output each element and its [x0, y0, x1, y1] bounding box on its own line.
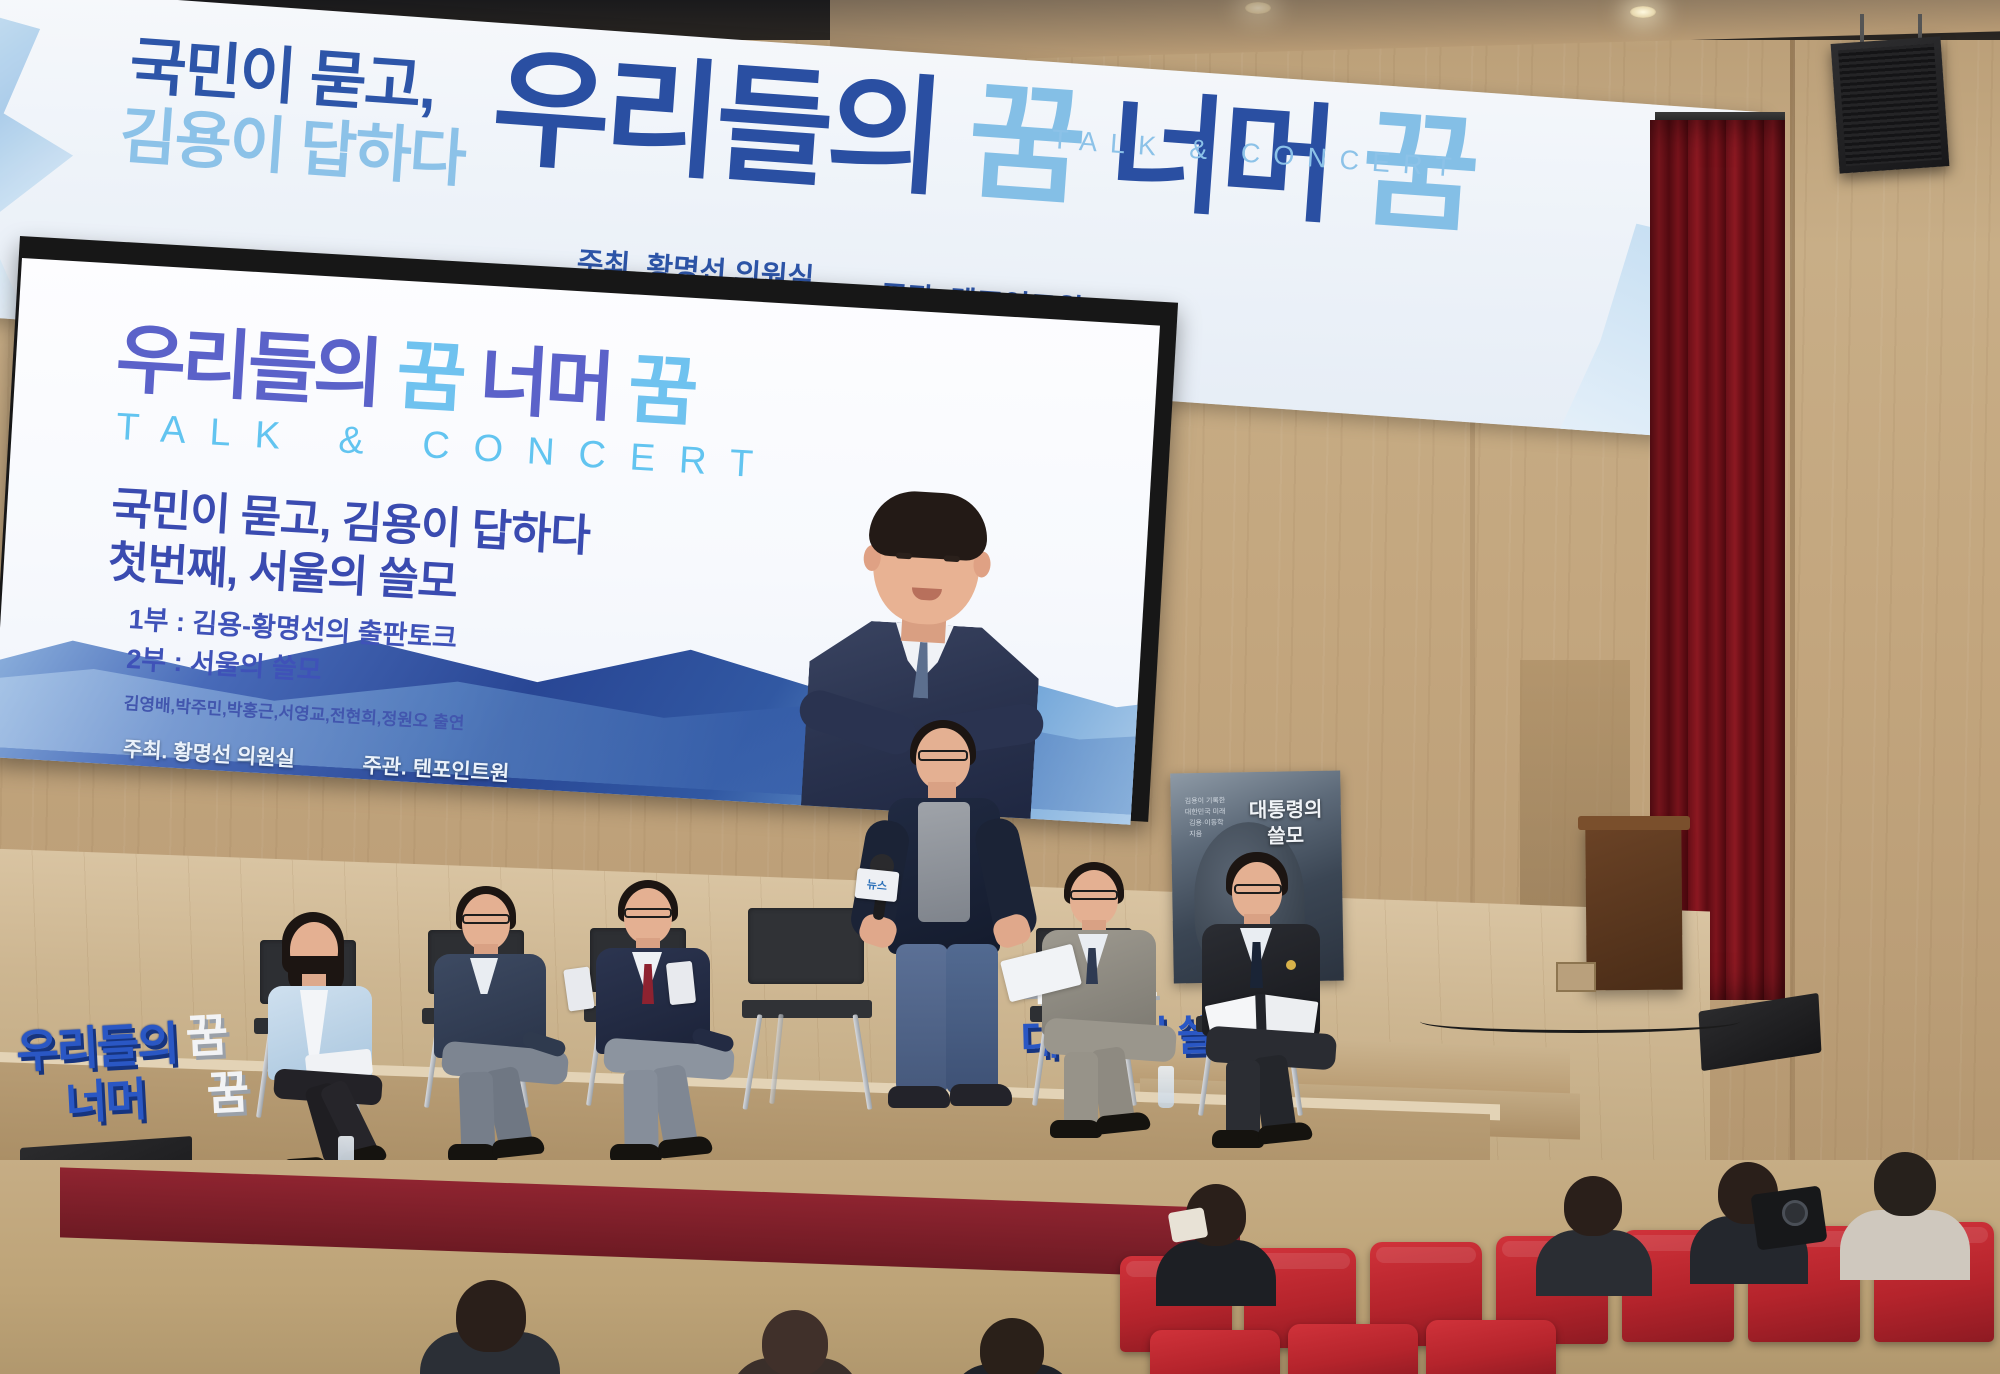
standing-speaker: 뉴스 — [862, 720, 1052, 1180]
panelist-3 — [582, 880, 772, 1166]
screen-title-part-3: 너머 — [477, 338, 614, 431]
panelist-4 — [1026, 862, 1216, 1142]
poster-title-line-2: 쓸모 — [1267, 819, 1304, 849]
screen-title-part-4: 꿈 — [626, 347, 697, 436]
water-bottle — [1158, 1066, 1174, 1108]
poster-small-text-1: 김용이 기록한 대한민국 미래 — [1185, 797, 1226, 819]
speaker-inner-top — [918, 802, 970, 922]
portrait-eye — [944, 555, 960, 562]
ceiling-light — [1245, 2, 1271, 14]
wall-outlet — [1556, 962, 1596, 992]
glasses-icon — [1234, 884, 1282, 894]
audience-seat — [1426, 1320, 1556, 1374]
audience-seat — [1150, 1330, 1280, 1374]
audience-person — [420, 1280, 560, 1374]
stage-cable — [1420, 1010, 1740, 1033]
lapel-badge — [1286, 960, 1296, 970]
speaker-shoe — [950, 1084, 1012, 1106]
camera-lens-icon — [1782, 1200, 1808, 1226]
audience-person — [1840, 1152, 1970, 1272]
audience-seat — [1288, 1324, 1418, 1374]
panelist-2 — [418, 886, 608, 1162]
microphone-flag-label: 뉴스 — [855, 868, 900, 902]
screen-title-part-1: 우리들의 — [114, 317, 382, 417]
front-letters-blue-2: 너머 — [63, 1063, 147, 1133]
audience-person — [730, 1310, 860, 1374]
panelist-1 — [248, 912, 418, 1162]
glasses-icon — [462, 914, 510, 924]
portrait-eye — [896, 552, 912, 559]
panelist-shoe — [491, 1135, 545, 1158]
portrait-hair — [868, 489, 990, 562]
glasses-icon — [624, 908, 672, 918]
ceiling-light — [1630, 6, 1656, 18]
stage-front-letters-left: 우리들의 너머 꿈 꿈 — [6, 1004, 243, 1156]
screen-title-part-2: 꿈 — [394, 333, 465, 422]
screenshot-root: 국민이 묻고, 김용이 답하다 우리들의 꿈 너머 꿈 TALK & CONCE… — [0, 0, 2000, 1374]
speaker-hanger — [1860, 14, 1864, 44]
microphone-flag — [666, 961, 696, 1005]
panelist-leg — [623, 1070, 658, 1155]
panelist-5 — [1190, 852, 1380, 1144]
podium-top — [1578, 816, 1690, 830]
panelist-leg — [459, 1071, 496, 1154]
panelist-shoe — [1212, 1130, 1264, 1148]
audience-person — [1536, 1176, 1652, 1286]
glasses-icon — [918, 750, 968, 761]
speaker-leg — [946, 944, 998, 1094]
ceiling-speaker — [1831, 36, 1950, 173]
speaker-grille — [1838, 44, 1942, 166]
audience-paper — [1168, 1207, 1209, 1243]
panelist-shoe — [1050, 1120, 1102, 1138]
poster-small-text-2: 김용·이동학 지음 — [1189, 819, 1224, 841]
banner-title-part-1: 우리들의 — [488, 37, 944, 211]
podium — [1585, 822, 1682, 991]
audience-person — [950, 1318, 1076, 1374]
speaker-leg — [896, 944, 948, 1094]
front-letters-white-2: 꿈 — [205, 1056, 249, 1124]
glasses-icon — [1070, 890, 1118, 900]
speaker-shoe — [888, 1086, 950, 1108]
